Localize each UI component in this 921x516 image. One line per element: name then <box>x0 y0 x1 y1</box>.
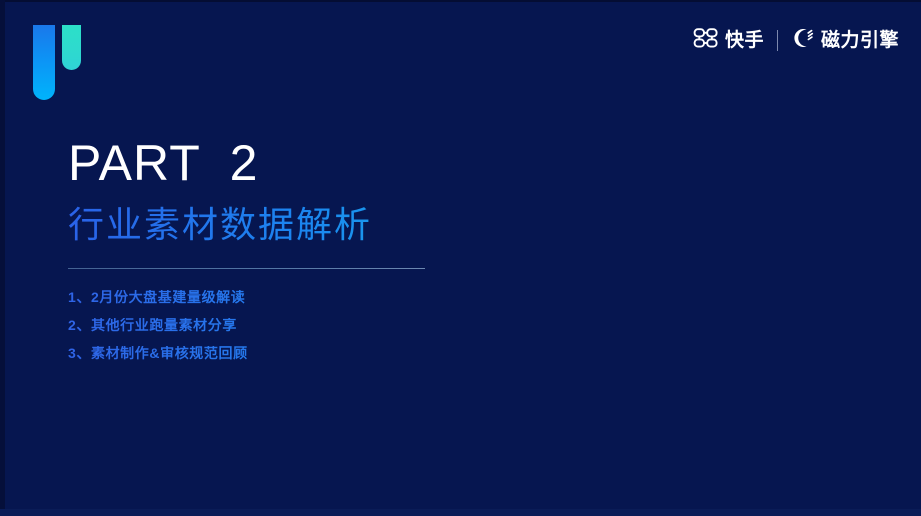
kuaishou-logo: 快手 <box>693 27 764 54</box>
magnetic-engine-logo: 磁力引擎 <box>791 27 899 54</box>
agenda-list: 1、2月份大盘基建量级解读 2、其他行业跑量素材分享 3、素材制作&审核规范回顾 <box>68 290 688 360</box>
agenda-item-2: 2、其他行业跑量素材分享 <box>68 318 688 332</box>
logo-divider <box>777 30 778 51</box>
slide-content: PART 2 行业素材数据解析 1、2月份大盘基建量级解读 2、其他行业跑量素材… <box>68 136 688 376</box>
magnetic-engine-icon <box>791 27 815 54</box>
part-title: PART 2 <box>68 136 688 190</box>
kuaishou-logo-text: 快手 <box>725 31 764 50</box>
logo-lockup: 快手 磁力引擎 <box>693 27 899 53</box>
top-hairline <box>0 0 921 2</box>
agenda-item-3: 3、素材制作&审核规范回顾 <box>68 346 688 360</box>
title-divider <box>68 268 425 269</box>
kuaishou-smiley-icon <box>693 27 719 54</box>
bottom-band <box>0 509 921 516</box>
brand-mark <box>33 25 85 103</box>
agenda-item-1: 1、2月份大盘基建量级解读 <box>68 290 688 304</box>
magnetic-engine-logo-text: 磁力引擎 <box>821 31 899 50</box>
brand-mark-bar-right <box>62 25 81 70</box>
brand-mark-bar-left <box>33 25 55 100</box>
presentation-slide: 快手 磁力引擎 PART 2 行业素材数据解析 1、2月份大盘基建量级解读 2、… <box>0 0 921 516</box>
section-title: 行业素材数据解析 <box>68 204 688 246</box>
left-edge-strip <box>0 0 5 516</box>
